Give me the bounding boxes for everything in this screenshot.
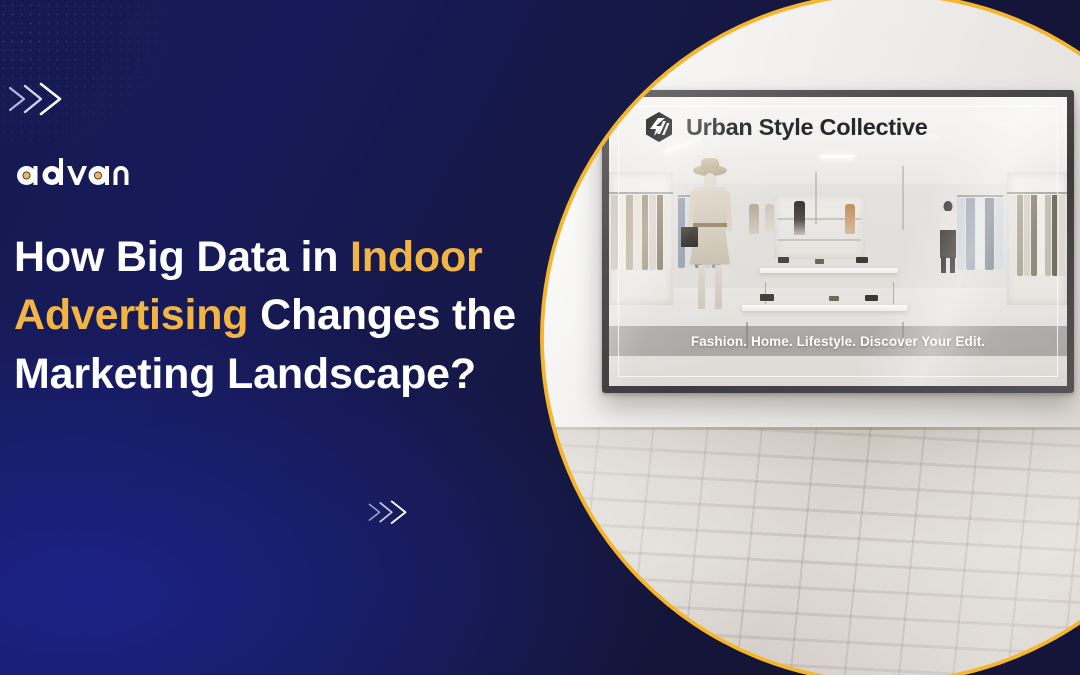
- mannequin-handbag: [681, 227, 698, 247]
- clothing-rail: [957, 195, 1003, 197]
- screen-brand-name: Urban Style Collective: [686, 114, 928, 141]
- shopper-leg: [950, 257, 955, 273]
- triple-chevron-arrow-icon: [8, 82, 66, 116]
- table-leg: [765, 282, 767, 304]
- clothing-rack: [611, 195, 671, 270]
- headline-highlight-2: Advertising: [14, 291, 248, 339]
- display-table: [760, 268, 897, 273]
- page-title: How Big Data in Indoor Advertising Chang…: [14, 228, 534, 403]
- hero-banner: How Big Data in Indoor Advertising Chang…: [0, 0, 1080, 675]
- circular-photo-frame: Urban Style Collective Fashion. Home. Li…: [540, 0, 1080, 675]
- hexagon-monogram-icon: [643, 111, 675, 143]
- store-post: [815, 172, 817, 224]
- product-item: [778, 257, 789, 263]
- mannequin-leg: [698, 265, 705, 309]
- advan-wordmark-icon: [14, 158, 136, 196]
- distant-mannequin: [749, 204, 759, 234]
- clothing-rail: [609, 192, 673, 194]
- store-post: [902, 166, 904, 230]
- circular-photo: Urban Style Collective Fashion. Home. Li…: [544, 0, 1080, 675]
- mannequin-belt: [693, 223, 727, 227]
- screen-brand-header: Urban Style Collective: [609, 97, 1067, 157]
- product-item: [829, 296, 839, 301]
- screen-bezel: Urban Style Collective Fashion. Home. Li…: [609, 97, 1067, 386]
- screen-content: Urban Style Collective Fashion. Home. Li…: [609, 97, 1067, 386]
- screen-tagline-band: Fashion. Home. Lifestyle. Discover Your …: [609, 326, 1067, 356]
- headline-highlight-1: Indoor: [350, 233, 483, 281]
- distant-mannequin: [794, 201, 805, 235]
- shopper-leg: [941, 257, 946, 273]
- shopper-figure: [939, 201, 957, 331]
- product-item: [760, 294, 774, 301]
- clothing-rack: [957, 198, 1003, 270]
- shopper-bottom: [940, 230, 956, 258]
- clothing-rack: [1010, 195, 1065, 276]
- floor-sheen: [544, 427, 1080, 675]
- digital-display-screen[interactable]: Urban Style Collective Fashion. Home. Li…: [602, 90, 1074, 393]
- table-leg: [893, 282, 895, 304]
- shopper-top: [940, 211, 956, 231]
- clothing-rail: [1007, 192, 1067, 194]
- product-item: [865, 295, 878, 301]
- mannequin-leg: [715, 265, 722, 309]
- display-table: [742, 305, 907, 311]
- headline-part-1: How Big Data in: [14, 233, 350, 281]
- triple-chevron-arrow-icon: [368, 500, 410, 524]
- product-item: [815, 259, 824, 264]
- distant-mannequin: [765, 204, 774, 232]
- wood-floor: [544, 427, 1080, 675]
- shelf-line: [778, 239, 860, 241]
- screen-tagline-text: Fashion. Home. Lifestyle. Discover Your …: [691, 334, 985, 349]
- advan-logo[interactable]: [14, 158, 136, 196]
- distant-mannequin: [845, 204, 855, 234]
- product-item: [856, 257, 868, 263]
- dot-grid-texture: [0, 0, 290, 232]
